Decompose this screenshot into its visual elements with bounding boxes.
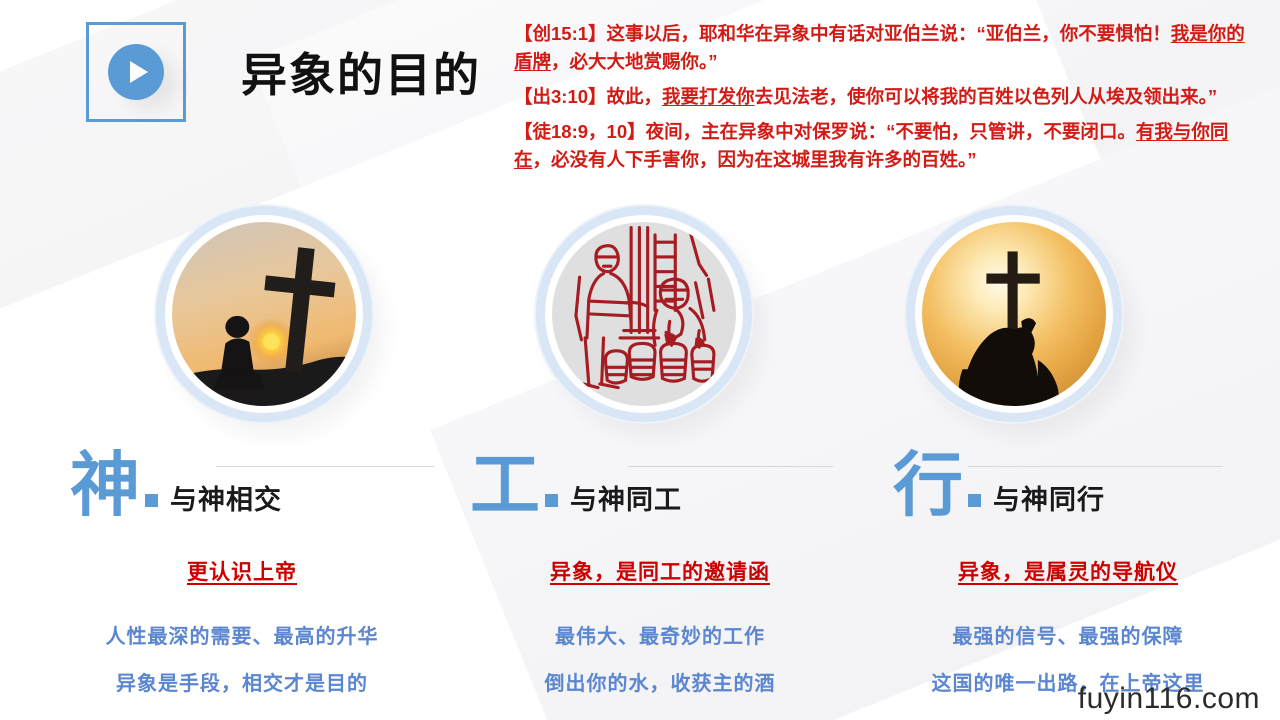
scripture-verse-2: 【出3:10】故此，我要打发你去见法老，使你可以将我的百姓以色列人从埃及领出来。… <box>514 83 1252 111</box>
photo-papercut-water-jars <box>552 222 736 406</box>
slide-header: 异象的目的 <box>86 22 481 122</box>
column-body-line: 倒出你的水，收获主的酒 <box>460 667 860 696</box>
verse-text-after: ，必没有人下手害你，因为在这城里我有许多的百姓。” <box>533 149 977 170</box>
verse-text-underlined: 我要打发你 <box>662 86 755 107</box>
scripture-verse-1: 【创15:1】这事以后，耶和华在异象中有话对亚伯兰说：“亚伯兰，你不要惧怕！我是… <box>514 20 1252 76</box>
column-heading-3: 行 与神同行 <box>893 452 1105 519</box>
play-circle-icon <box>108 44 164 100</box>
column-heading-1: 神 与神相交 <box>70 452 282 519</box>
scripture-verse-3: 【徒18:9，10】夜间，主在异象中对保罗说：“不要怕，只管讲，不要闭口。有我与… <box>514 118 1252 174</box>
column-body-line: 人性最深的需要、最高的升华 <box>42 620 442 649</box>
column-image-2 <box>536 206 752 422</box>
column-headline: 异象，是同工的邀请函 <box>460 556 860 586</box>
column-sub-label: 与神同行 <box>993 478 1105 517</box>
column-image-1 <box>156 206 372 422</box>
verse-text-before: 这事以后，耶和华在异象中有话对亚伯兰说：“亚伯兰，你不要惧怕！ <box>607 23 1171 44</box>
verse-reference: 【出3:10】 <box>514 86 607 107</box>
verse-text-before: 故此， <box>607 86 663 107</box>
column-divider-2 <box>628 466 833 467</box>
site-watermark: fuyin116.com <box>1078 682 1260 716</box>
column-big-char: 神 <box>70 452 140 519</box>
heading-dot-marker <box>545 494 558 507</box>
photo-holding-cross-golden <box>922 222 1106 406</box>
verse-text-before: 夜间，主在异象中对保罗说：“不要怕，只管讲，不要闭口。 <box>646 121 1136 142</box>
verse-reference: 【徒18:9，10】 <box>514 121 646 142</box>
column-sub-label: 与神同工 <box>570 478 682 517</box>
column-divider-1 <box>216 466 434 467</box>
column-body-line: 异象是手段，相交才是目的 <box>42 667 442 696</box>
verse-text-after: 去见法老，使你可以将我的百姓以色列人从埃及领出来。” <box>755 86 1218 107</box>
column-body-line: 最伟大、最奇妙的工作 <box>460 620 860 649</box>
column-body-1: 更认识上帝 人性最深的需要、最高的升华 异象是手段，相交才是目的 <box>42 556 442 714</box>
column-body-line: 最强的信号、最强的保障 <box>868 620 1268 649</box>
column-big-char: 工 <box>470 452 540 519</box>
photo-cross-sunset <box>172 222 356 406</box>
column-divider-3 <box>968 466 1223 467</box>
verse-reference: 【创15:1】 <box>514 23 607 44</box>
column-body-2: 异象，是同工的邀请函 最伟大、最奇妙的工作 倒出你的水，收获主的酒 <box>460 556 860 714</box>
column-headline: 更认识上帝 <box>42 556 442 586</box>
column-big-char: 行 <box>893 452 963 519</box>
page-title: 异象的目的 <box>241 39 481 105</box>
column-sub-label: 与神相交 <box>170 478 282 517</box>
column-heading-2: 工 与神同工 <box>470 452 682 519</box>
heading-dot-marker <box>145 494 158 507</box>
column-image-3 <box>906 206 1122 422</box>
verse-text-after: ，必大大地赏赐你。” <box>551 51 718 72</box>
slide-canvas: 异象的目的 【创15:1】这事以后，耶和华在异象中有话对亚伯兰说：“亚伯兰，你不… <box>0 0 1280 720</box>
heading-dot-marker <box>968 494 981 507</box>
play-button-icon <box>86 22 186 122</box>
scripture-block: 【创15:1】这事以后，耶和华在异象中有话对亚伯兰说：“亚伯兰，你不要惧怕！我是… <box>514 20 1252 182</box>
column-headline: 异象，是属灵的导航仪 <box>868 556 1268 586</box>
